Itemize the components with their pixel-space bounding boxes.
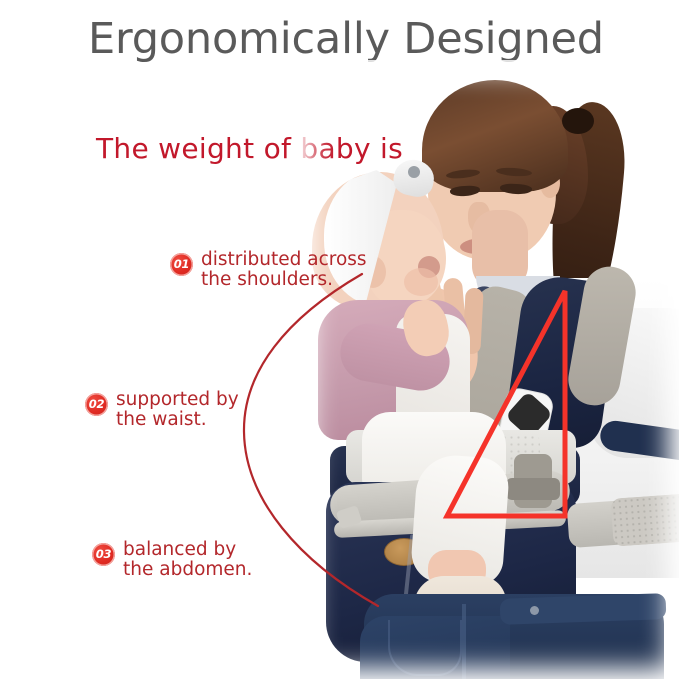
- callout-03: 03 balanced by the abdomen.: [92, 543, 252, 580]
- photo-edge-fade: [300, 60, 679, 679]
- product-lifestyle-photo: [300, 60, 679, 679]
- callout-03-badge: 03: [92, 543, 115, 566]
- callout-02: 02 supported by the waist.: [85, 393, 239, 430]
- callout-02-label: supported by the waist.: [116, 390, 239, 430]
- callout-01-badge: 01: [170, 253, 193, 276]
- callout-01-label: distributed across the shoulders.: [201, 250, 367, 290]
- callout-02-badge: 02: [85, 393, 108, 416]
- page-title: Ergonomically Designed: [88, 14, 648, 64]
- infographic-canvas: Ergonomically Designed The weight of bab…: [0, 0, 679, 679]
- callout-03-label: balanced by the abdomen.: [123, 540, 252, 580]
- callout-01: 01 distributed across the shoulders.: [170, 253, 367, 290]
